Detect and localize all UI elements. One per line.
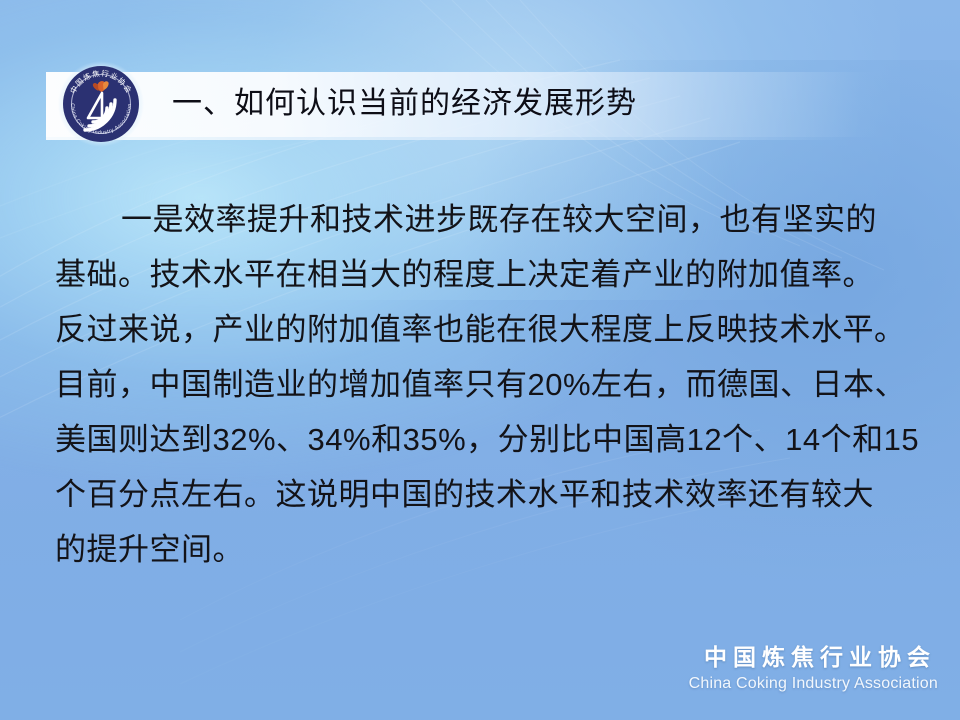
title-underline — [46, 137, 846, 140]
body-line: 美国则达到32%、34%和35%，分别比中国高12个、14个和15 — [55, 412, 925, 467]
slide-body: 一是效率提升和技术进步既存在较大空间，也有坚实的 基础。技术水平在相当大的程度上… — [55, 192, 925, 577]
presentation-slide: 中国炼焦行业协会 China Coking Industry Associati… — [0, 0, 960, 720]
body-line: 反过来说，产业的附加值率也能在很大程度上反映技术水平。 — [55, 302, 925, 357]
body-line: 的提升空间。 — [55, 522, 925, 577]
footer-branding: 中国炼焦行业协会 China Coking Industry Associati… — [689, 646, 938, 692]
footer-brand-cn: 中国炼焦行业协会 — [689, 646, 938, 669]
body-line: 个百分点左右。这说明中国的技术水平和技术效率还有较大 — [55, 467, 925, 522]
body-line: 基础。技术水平在相当大的程度上决定着产业的附加值率。 — [55, 247, 925, 302]
footer-brand-en: China Coking Industry Association — [689, 676, 938, 692]
association-logo: 中国炼焦行业协会 China Coking Industry Associati… — [57, 60, 145, 148]
page-title: 一、如何认识当前的经济发展形势 — [172, 78, 637, 130]
body-line: 一是效率提升和技术进步既存在较大空间，也有坚实的 — [55, 192, 925, 247]
body-line: 目前，中国制造业的增加值率只有20%左右，而德国、日本、 — [55, 357, 925, 412]
